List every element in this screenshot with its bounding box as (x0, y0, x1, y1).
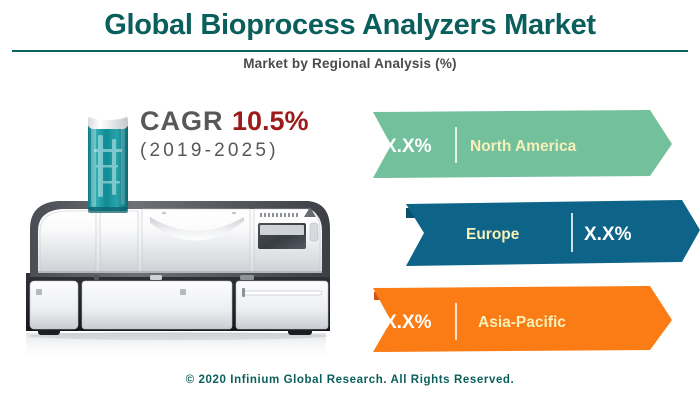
title-divider (12, 50, 688, 52)
banner-shape-europe (406, 200, 700, 266)
page-subtitle: Market by Regional Analysis (%) (0, 56, 700, 71)
banner-north-america[interactable]: X.X% North America (373, 110, 672, 178)
instrument-drawer-row (30, 281, 328, 329)
banner-label-north-america: North America (470, 138, 577, 155)
banner-europe[interactable]: Europe X.X% (406, 200, 700, 266)
regional-banner-chart: X.X% North America Europe X.X% X.X% Asia… (360, 100, 700, 362)
banner-asia-pacific[interactable]: X.X% Asia-Pacific (373, 286, 672, 352)
banner-label-europe: Europe (466, 226, 520, 243)
footer-copyright: © 2020 Infinium Global Research. All Rig… (0, 374, 700, 386)
banner-percent-europe: X.X% (584, 224, 632, 245)
bioprocess-analyzer-image (8, 95, 368, 365)
instrument-column (88, 110, 128, 213)
instrument-reflection (26, 332, 328, 361)
page-title: Global Bioprocess Analyzers Market (0, 0, 700, 47)
banner-percent-north-america: X.X% (384, 136, 432, 157)
banner-label-asia-pacific: Asia-Pacific (478, 314, 566, 331)
banner-percent-asia-pacific: X.X% (384, 312, 432, 333)
header: Global Bioprocess Analyzers Market Marke… (0, 0, 700, 72)
instrument-body (30, 201, 330, 280)
